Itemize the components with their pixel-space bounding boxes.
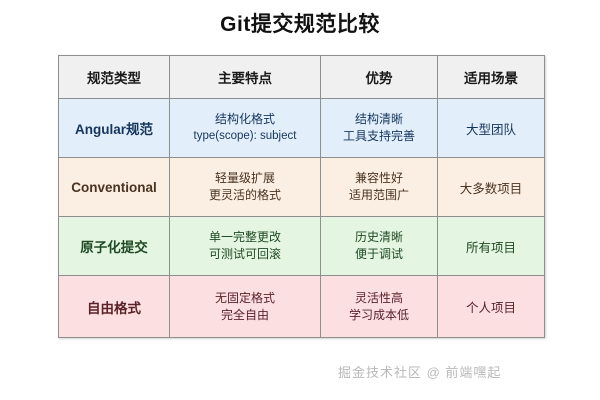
feature-line: 轻量级扩展 [170,170,320,187]
table-header-row: 规范类型 主要特点 优势 适用场景 [59,56,545,99]
feature-line: 结构化格式 [170,111,320,128]
feature-line: type(scope): subject [170,128,320,145]
cell-spec-name: Conventional [59,158,170,217]
cell-scenario: 个人项目 [438,276,545,338]
table-row: 原子化提交 单一完整更改 可测试可回滚 历史清晰 便于调试 所有项目 [59,217,545,276]
cell-advantages: 灵活性高 学习成本低 [321,276,438,338]
advantage-line: 适用范围广 [321,187,437,204]
cell-scenario: 所有项目 [438,217,545,276]
advantage-line: 历史清晰 [321,229,437,246]
table-header: 规范类型 主要特点 优势 适用场景 [59,56,545,99]
page-root: Git提交规范比较 规范类型 主要特点 优势 适用场景 Angular规范 结构… [0,0,600,400]
feature-line: 可测试可回滚 [170,246,320,263]
table-row: 自由格式 无固定格式 完全自由 灵活性高 学习成本低 个人项目 [59,276,545,338]
table-row: Angular规范 结构化格式 type(scope): subject 结构清… [59,99,545,158]
cell-features: 无固定格式 完全自由 [170,276,321,338]
cell-advantages: 历史清晰 便于调试 [321,217,438,276]
feature-line: 更灵活的格式 [170,187,320,204]
page-title: Git提交规范比较 [0,8,600,38]
cell-features: 单一完整更改 可测试可回滚 [170,217,321,276]
feature-line: 完全自由 [170,307,320,324]
cell-spec-name: 原子化提交 [59,217,170,276]
column-header-features: 主要特点 [170,56,321,99]
table-row: Conventional 轻量级扩展 更灵活的格式 兼容性好 适用范围广 大多数… [59,158,545,217]
cell-features: 结构化格式 type(scope): subject [170,99,321,158]
advantage-line: 兼容性好 [321,170,437,187]
column-header-advantages: 优势 [321,56,438,99]
cell-advantages: 兼容性好 适用范围广 [321,158,438,217]
comparison-table-container: 规范类型 主要特点 优势 适用场景 Angular规范 结构化格式 type(s… [58,55,544,338]
feature-line: 单一完整更改 [170,229,320,246]
comparison-table: 规范类型 主要特点 优势 适用场景 Angular规范 结构化格式 type(s… [58,55,545,338]
cell-spec-name: Angular规范 [59,99,170,158]
advantage-line: 便于调试 [321,246,437,263]
watermark: 掘金技术社区 @ 前端嘿起 [338,362,501,381]
advantage-line: 工具支持完善 [321,128,437,145]
column-header-scenario: 适用场景 [438,56,545,99]
feature-line: 无固定格式 [170,290,320,307]
table-body: Angular规范 结构化格式 type(scope): subject 结构清… [59,99,545,338]
advantage-line: 灵活性高 [321,290,437,307]
cell-advantages: 结构清晰 工具支持完善 [321,99,438,158]
cell-features: 轻量级扩展 更灵活的格式 [170,158,321,217]
advantage-line: 学习成本低 [321,307,437,324]
column-header-type: 规范类型 [59,56,170,99]
cell-scenario: 大型团队 [438,99,545,158]
cell-spec-name: 自由格式 [59,276,170,338]
cell-scenario: 大多数项目 [438,158,545,217]
advantage-line: 结构清晰 [321,111,437,128]
